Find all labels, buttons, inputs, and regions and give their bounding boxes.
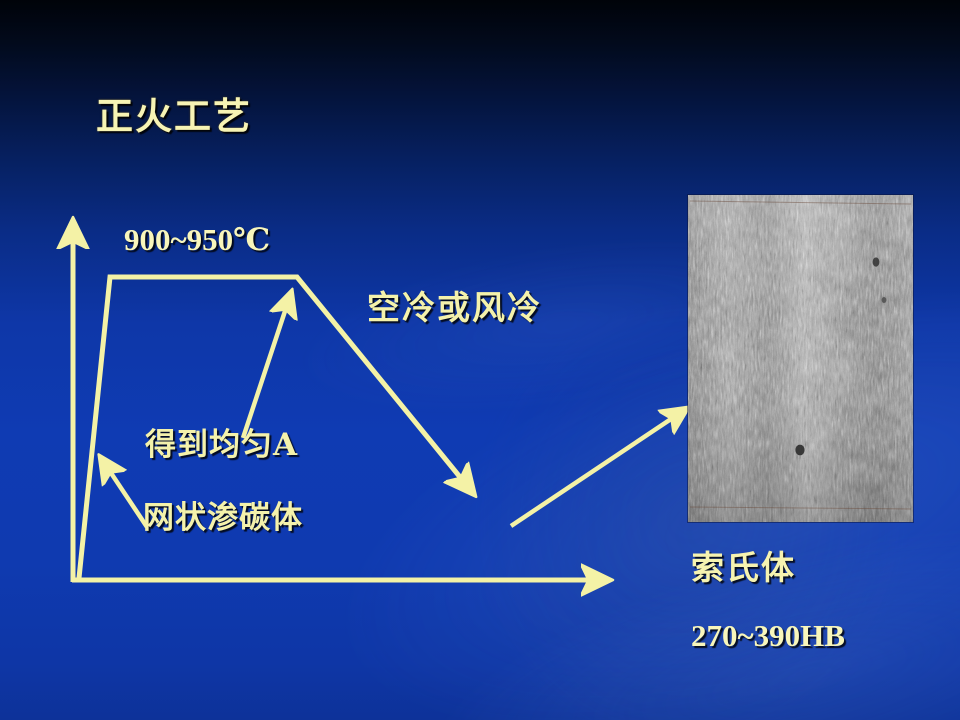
uniform-austenite-label: 得到均匀A	[145, 430, 298, 461]
sorbite-micrograph	[688, 195, 913, 522]
slide-canvas: 正火工艺 900~950℃ 空冷或风冷 得到均匀A 网状渗碳体	[0, 0, 960, 720]
cooling-method-label: 空冷或风冷	[367, 291, 542, 324]
micrograph-texture	[688, 195, 913, 522]
network-cementite-arrow	[101, 458, 147, 527]
micrograph-pointer-arrow	[511, 409, 686, 526]
network-cementite-label: 网状渗碳体	[143, 503, 303, 534]
uniform-austenite-arrow	[243, 293, 291, 438]
sorbite-caption: 索氏体	[691, 551, 796, 584]
hardness-value: 270~390HB	[691, 620, 845, 651]
temperature-label: 900~950℃	[124, 224, 270, 255]
